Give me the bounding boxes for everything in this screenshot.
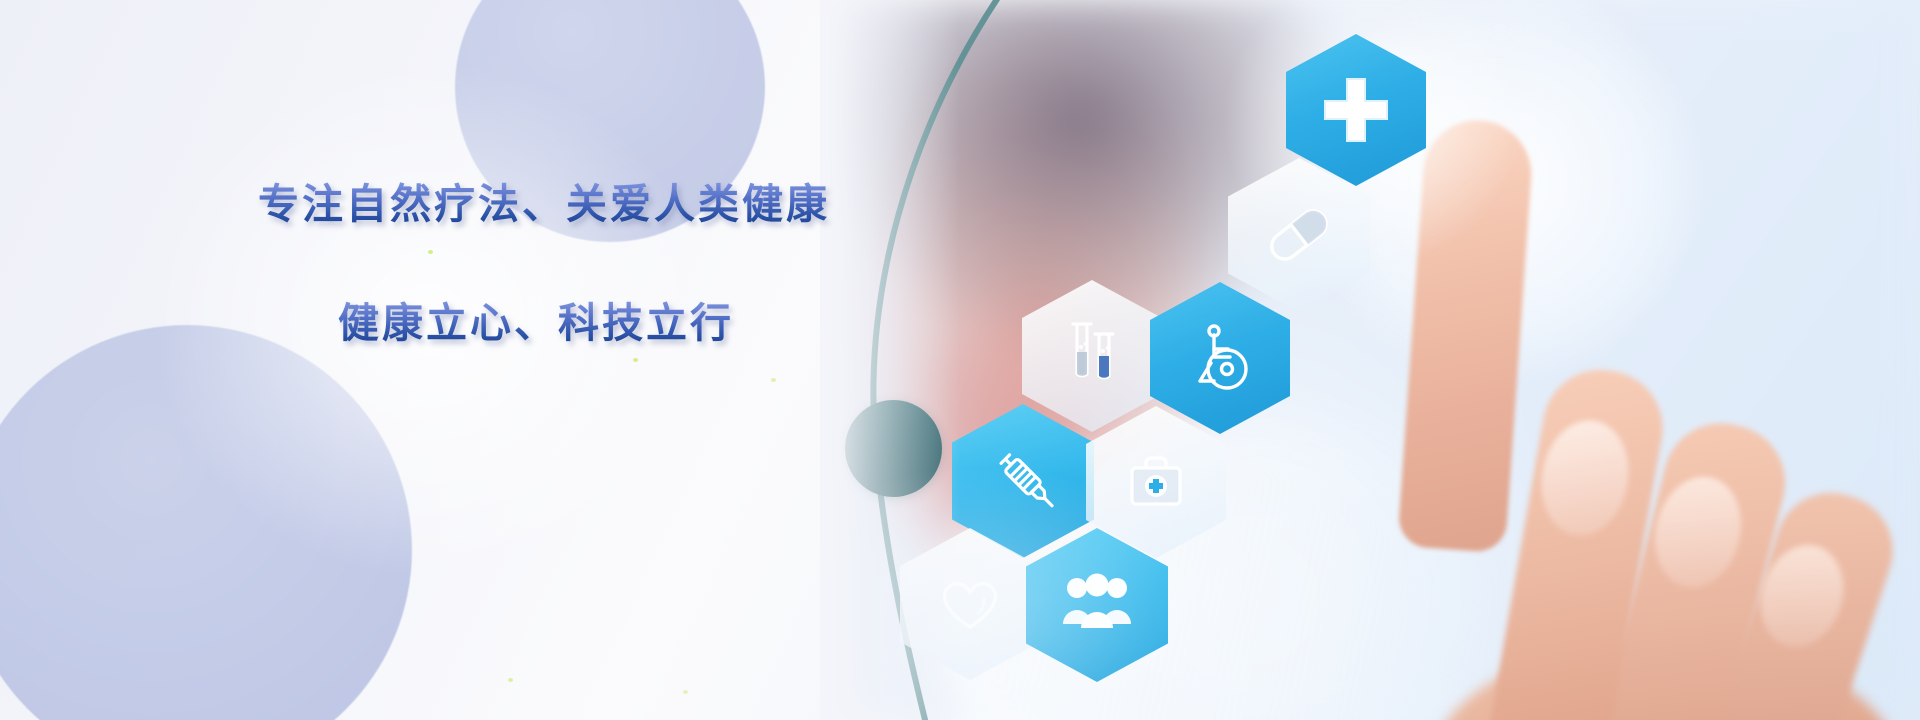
sparkle-speck [633, 358, 638, 362]
health-banner: 专注自然疗法、关爱人类健康 健康立心、科技立行 [0, 0, 1920, 720]
test-tubes-icon [1022, 280, 1162, 432]
headline-block: 专注自然疗法、关爱人类健康 健康立心、科技立行 [258, 182, 898, 346]
sparkle-speck [508, 678, 513, 682]
sparkle-speck [683, 690, 688, 694]
headline-line-1: 专注自然疗法、关爱人类健康 [258, 182, 898, 227]
headline-line-2: 健康立心、科技立行 [338, 301, 898, 346]
hexagon-icon-cluster [0, 0, 1920, 720]
sparkle-speck [771, 378, 776, 382]
wheelchair-icon [1150, 282, 1290, 434]
